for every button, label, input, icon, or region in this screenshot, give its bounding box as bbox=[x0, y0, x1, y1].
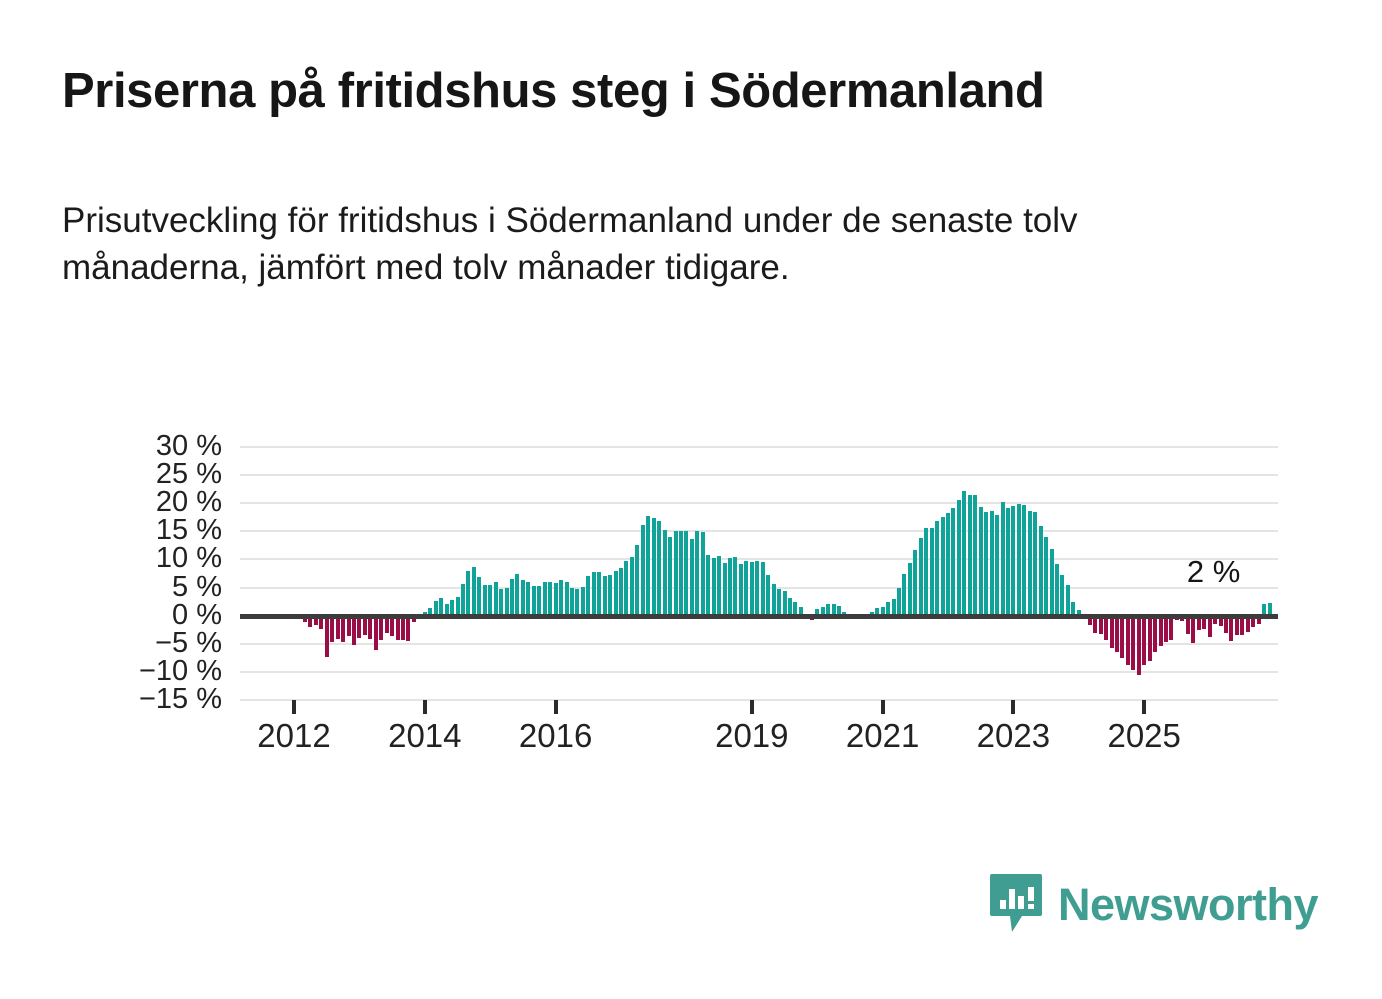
chart-bar bbox=[499, 589, 503, 616]
chart-bar bbox=[1055, 564, 1059, 616]
chart-bar bbox=[1028, 511, 1032, 616]
plot-area bbox=[240, 447, 1278, 700]
chart-bar bbox=[652, 518, 656, 615]
x-axis-tick bbox=[1142, 700, 1146, 714]
chart-bar bbox=[717, 556, 721, 616]
chart-bar bbox=[723, 563, 727, 615]
chart-bar bbox=[1148, 616, 1152, 661]
chart-bar bbox=[761, 562, 765, 616]
chart-bar bbox=[472, 567, 476, 615]
chart-bar bbox=[347, 616, 351, 636]
gridline bbox=[240, 446, 1278, 448]
y-axis-tick-label: −10 % bbox=[72, 657, 222, 686]
y-axis-tick-label: 20 % bbox=[72, 488, 222, 517]
x-axis-tick-label: 2019 bbox=[715, 718, 788, 754]
chart-bar bbox=[663, 530, 667, 616]
chart-bar bbox=[401, 616, 405, 641]
chart-bar bbox=[1104, 616, 1108, 641]
chart-bar bbox=[581, 587, 585, 616]
chart-bar bbox=[368, 616, 372, 640]
chart-bar bbox=[1044, 537, 1048, 616]
chart-bar bbox=[597, 572, 601, 616]
chart-bar bbox=[984, 512, 988, 616]
chart-bar bbox=[1022, 505, 1026, 615]
chart-bar bbox=[330, 616, 334, 642]
x-axis-tick-label: 2021 bbox=[846, 718, 919, 754]
chart-bar bbox=[946, 513, 950, 616]
chart-bar bbox=[608, 575, 612, 616]
chart-bar bbox=[521, 580, 525, 615]
chart-bar bbox=[695, 531, 699, 615]
chart-bar bbox=[352, 616, 356, 645]
chart-bar bbox=[603, 576, 607, 615]
chart-bar bbox=[1115, 616, 1119, 652]
value-annotation: 2 % bbox=[1187, 556, 1240, 587]
x-axis: 2012201420162019202120232025 bbox=[240, 700, 1278, 760]
chart-bar bbox=[750, 562, 754, 615]
chart-bar bbox=[990, 511, 994, 616]
y-axis-tick-label: 0 % bbox=[72, 601, 222, 630]
chart-bar bbox=[559, 580, 563, 616]
chart-bar bbox=[739, 564, 743, 616]
newsworthy-logo-icon bbox=[988, 872, 1044, 936]
chart-bar bbox=[684, 531, 688, 616]
chart-bar bbox=[379, 616, 383, 641]
chart-bar bbox=[1153, 616, 1157, 652]
chart-bar bbox=[930, 528, 934, 616]
chart-bar bbox=[913, 550, 917, 616]
chart-bar bbox=[1039, 526, 1043, 616]
chart-bar bbox=[624, 561, 628, 616]
gridline bbox=[240, 671, 1278, 673]
chart-bar bbox=[641, 525, 645, 616]
y-axis-tick-label: −15 % bbox=[72, 685, 222, 714]
chart-bar bbox=[979, 507, 983, 616]
chart-bar bbox=[406, 616, 410, 641]
zero-baseline bbox=[240, 614, 1278, 619]
x-axis-tick-label: 2016 bbox=[519, 718, 592, 754]
chart-bar bbox=[565, 582, 569, 616]
chart-bar bbox=[1033, 512, 1037, 616]
chart-bar bbox=[537, 586, 541, 615]
chart-bar bbox=[766, 575, 770, 615]
chart-bar bbox=[554, 583, 558, 616]
chart-bar bbox=[336, 616, 340, 640]
chart-bar bbox=[1060, 575, 1064, 616]
chart-bar bbox=[1159, 616, 1163, 646]
newsworthy-logo: Newsworthy bbox=[988, 872, 1318, 936]
chart-bar bbox=[935, 521, 939, 616]
chart-bar bbox=[390, 616, 394, 636]
chart-bar bbox=[1110, 616, 1114, 649]
chart-bar bbox=[619, 568, 623, 615]
page-subtitle: Prisutveckling för fritidshus i Söderman… bbox=[62, 198, 1247, 291]
x-axis-tick bbox=[554, 700, 558, 714]
page-title: Priserna på fritidshus steg i Södermanla… bbox=[62, 64, 1332, 119]
chart-bar bbox=[995, 515, 999, 616]
chart-bar bbox=[341, 616, 345, 642]
x-axis-tick bbox=[423, 700, 427, 714]
chart-bar bbox=[461, 584, 465, 615]
chart-bar bbox=[733, 557, 737, 615]
y-axis-tick-label: 10 % bbox=[72, 544, 222, 573]
chart-bar bbox=[951, 508, 955, 616]
chart-bar bbox=[325, 616, 329, 658]
chart-bar bbox=[483, 585, 487, 615]
chart-bar bbox=[957, 500, 961, 615]
chart-bar bbox=[1120, 616, 1124, 658]
chart-bar bbox=[668, 537, 672, 616]
chart-bar bbox=[466, 571, 470, 616]
chart-bar bbox=[777, 589, 781, 615]
chart-bar bbox=[505, 588, 509, 616]
chart-bar bbox=[515, 574, 519, 616]
chart-bar bbox=[1142, 616, 1146, 665]
y-axis-tick-label: 15 % bbox=[72, 516, 222, 545]
chart-bar bbox=[635, 545, 639, 615]
chart-bar bbox=[592, 572, 596, 616]
chart-bar bbox=[968, 495, 972, 616]
chart-bar bbox=[772, 584, 776, 616]
x-axis-tick-label: 2023 bbox=[977, 718, 1050, 754]
bar-chart: 30 %25 %20 %15 %10 %5 %0 %−5 %−10 %−15 %… bbox=[0, 420, 1382, 760]
chart-bar bbox=[543, 582, 547, 615]
chart-bar bbox=[488, 585, 492, 615]
chart-bar bbox=[532, 586, 536, 616]
chart-bar bbox=[1131, 616, 1135, 670]
chart-bar bbox=[1006, 508, 1010, 616]
chart-bar bbox=[1229, 616, 1233, 641]
y-axis-tick-label: −5 % bbox=[72, 629, 222, 658]
chart-bar bbox=[575, 589, 579, 616]
y-axis-tick-label: 30 % bbox=[72, 432, 222, 461]
chart-bar bbox=[1208, 616, 1212, 637]
chart-bar bbox=[919, 538, 923, 616]
chart-bar bbox=[701, 532, 705, 616]
chart-bar bbox=[783, 591, 787, 616]
x-axis-tick bbox=[292, 700, 296, 714]
chart-bar bbox=[924, 528, 928, 616]
chart-bar bbox=[494, 582, 498, 616]
chart-bar bbox=[1191, 616, 1195, 643]
chart-bar bbox=[570, 588, 574, 616]
chart-bar bbox=[706, 555, 710, 616]
chart-bar bbox=[679, 531, 683, 615]
chart-bar bbox=[614, 571, 618, 616]
chart-bar bbox=[1011, 506, 1015, 616]
chart-bar bbox=[586, 576, 590, 616]
chart-bar bbox=[510, 579, 514, 616]
chart-bar bbox=[396, 616, 400, 641]
chart-bar bbox=[477, 577, 481, 616]
chart-bar bbox=[657, 521, 661, 616]
newsworthy-logo-text: Newsworthy bbox=[1058, 882, 1318, 927]
gridline bbox=[240, 530, 1278, 532]
chart-bar bbox=[548, 582, 552, 616]
chart-bar bbox=[1137, 616, 1141, 675]
chart-bar bbox=[1050, 549, 1054, 615]
x-axis-tick-label: 2012 bbox=[257, 718, 330, 754]
chart-bar bbox=[728, 558, 732, 615]
chart-bar bbox=[1001, 502, 1005, 616]
chart-bar bbox=[374, 616, 378, 650]
chart-bar bbox=[526, 582, 530, 615]
chart-bar bbox=[744, 561, 748, 616]
chart-bar bbox=[1169, 616, 1173, 641]
chart-bar bbox=[902, 574, 906, 616]
chart-bar bbox=[908, 563, 912, 616]
chart-bar bbox=[973, 495, 977, 616]
chart-bar bbox=[1017, 504, 1021, 615]
chart-bar bbox=[630, 557, 634, 615]
gridline bbox=[240, 502, 1278, 504]
x-axis-tick bbox=[1011, 700, 1015, 714]
x-axis-tick-label: 2025 bbox=[1107, 718, 1180, 754]
chart-bar bbox=[646, 516, 650, 616]
x-axis-tick bbox=[881, 700, 885, 714]
chart-page: Priserna på fritidshus steg i Södermanla… bbox=[0, 0, 1382, 999]
chart-bar bbox=[897, 588, 901, 616]
gridline bbox=[240, 474, 1278, 476]
chart-bar bbox=[712, 558, 716, 615]
chart-bar bbox=[941, 517, 945, 615]
x-axis-tick-label: 2014 bbox=[388, 718, 461, 754]
y-axis-tick-label: 25 % bbox=[72, 460, 222, 489]
chart-bar bbox=[962, 491, 966, 616]
gridline bbox=[240, 558, 1278, 560]
y-axis-tick-label: 5 % bbox=[72, 573, 222, 602]
chart-bar bbox=[1066, 585, 1070, 615]
chart-bar bbox=[1126, 616, 1130, 665]
chart-bar bbox=[1164, 616, 1168, 642]
chart-bar bbox=[674, 531, 678, 616]
chart-bar bbox=[755, 561, 759, 616]
x-axis-tick bbox=[750, 700, 754, 714]
chart-bar bbox=[357, 616, 361, 638]
chart-bar bbox=[690, 539, 694, 615]
